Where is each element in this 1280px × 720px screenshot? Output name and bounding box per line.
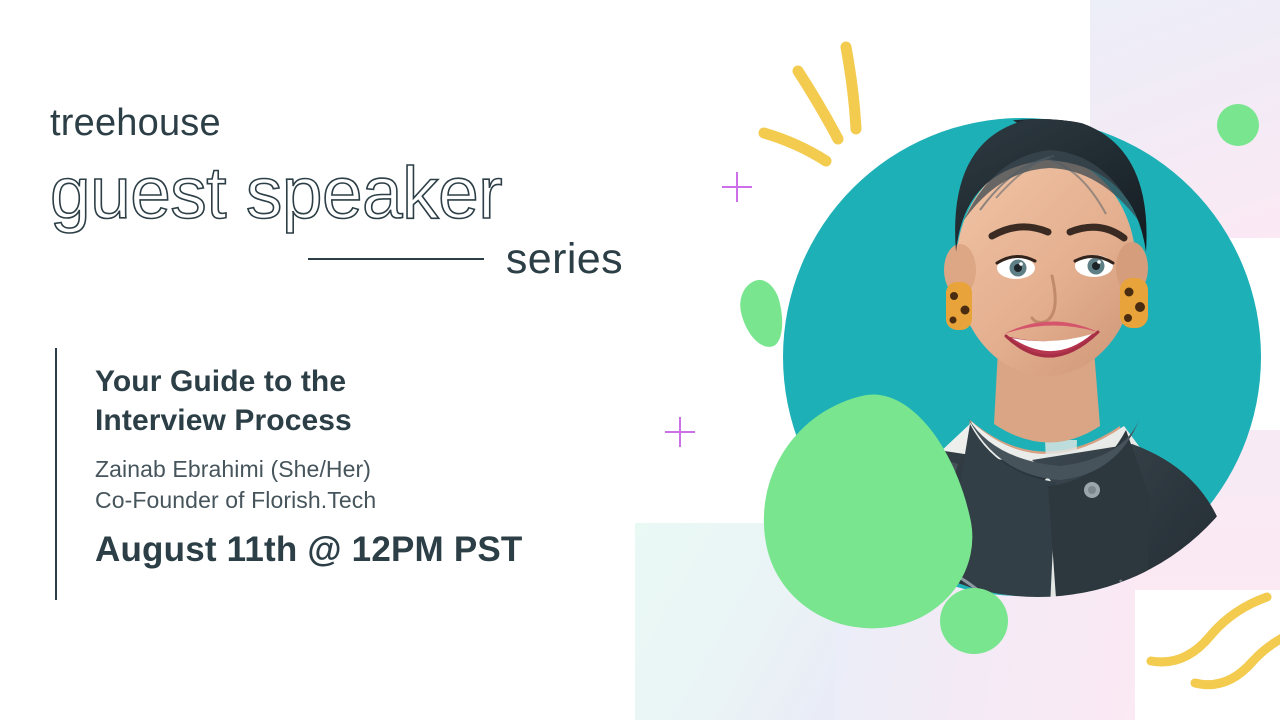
green-blob-small (734, 276, 789, 352)
speaker-portrait-illustration (820, 20, 1280, 680)
series-row: series (50, 238, 623, 281)
event-details-block: Your Guide to the Interview Process Zain… (55, 348, 523, 600)
plus-vertical-bar (736, 172, 738, 202)
purple-plus-top-icon (722, 172, 752, 202)
speaker-photo (820, 20, 1280, 680)
plus-horizontal-bar (665, 431, 695, 433)
speaker-name: Zainab Ebrahimi (She/Her) (95, 454, 523, 485)
treehouse-wordmark: treehouse (50, 104, 650, 142)
series-divider-rule (308, 258, 484, 260)
event-datetime: August 11th @ 12PM PST (95, 529, 523, 571)
guest-speaker-promo-slide: treehouse guest speaker series Your Guid… (0, 0, 1280, 720)
purple-plus-middle-icon (665, 417, 695, 447)
event-title-line-2: Interview Process (95, 401, 523, 440)
pale-gradient-block-bottom-left (635, 523, 835, 720)
plus-horizontal-bar (722, 186, 752, 188)
guest-speaker-headline: guest speaker (50, 156, 650, 232)
series-label: series (506, 238, 623, 281)
event-title: Your Guide to the Interview Process (95, 362, 523, 440)
event-title-line-1: Your Guide to the (95, 362, 523, 401)
brand-lockup: treehouse guest speaker series (50, 104, 650, 281)
speaker-role: Co-Founder of Florish.Tech (95, 485, 523, 516)
plus-vertical-bar (679, 417, 681, 447)
